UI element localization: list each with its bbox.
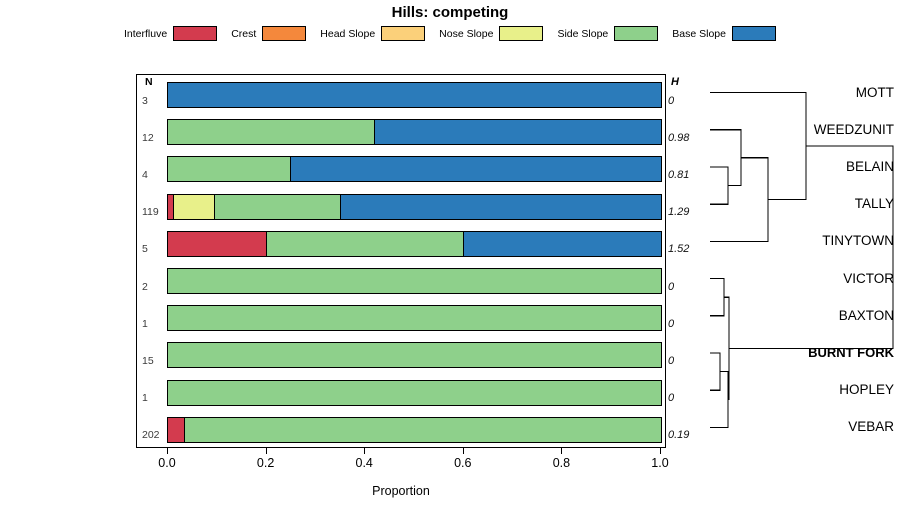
stacked-bar <box>167 268 662 294</box>
dendro-merge-burntfork-hopley <box>710 353 720 390</box>
x-tick-label: 0.8 <box>553 456 570 470</box>
bar-segment-side-slope <box>168 269 661 293</box>
legend-item-side-slope: Side Slope <box>557 26 658 41</box>
bar-row <box>137 187 665 224</box>
bar-segment-base-slope <box>291 157 661 181</box>
bar-segment-side-slope <box>168 306 661 330</box>
dendro-merge-B-tinytown <box>710 158 768 242</box>
legend-label: Crest <box>231 28 256 40</box>
legend-swatch <box>173 26 217 41</box>
x-tick <box>463 448 464 454</box>
x-tick <box>364 448 365 454</box>
stacked-bar <box>167 305 662 331</box>
legend-label: Interfluve <box>124 28 167 40</box>
dendro-merge-mott-C <box>710 93 806 200</box>
h-column-header: H <box>671 76 679 88</box>
bar-segment-base-slope <box>168 83 661 107</box>
legend-label: Side Slope <box>557 28 608 40</box>
h-value: 0 <box>668 95 674 107</box>
bar-segment-side-slope <box>168 343 661 367</box>
stacked-bar <box>167 119 662 145</box>
legend: InterfluveCrestHead SlopeNose SlopeSide … <box>0 26 900 41</box>
bar-segment-nose-slope <box>174 195 214 219</box>
dendrogram <box>688 74 900 448</box>
dendro-merge-weedzunit-A <box>710 130 741 186</box>
bar-segment-side-slope <box>215 195 341 219</box>
x-tick-label: 0.4 <box>355 456 372 470</box>
stacked-bar <box>167 417 662 443</box>
bar-segment-side-slope <box>168 157 291 181</box>
legend-item-interfluve: Interfluve <box>124 26 217 41</box>
dendrogram-svg <box>688 74 900 448</box>
bar-segment-base-slope <box>464 232 661 256</box>
h-value: 0.19 <box>668 429 689 441</box>
stacked-bar <box>167 342 662 368</box>
x-tick-label: 0.2 <box>257 456 274 470</box>
dendro-merge-victor-baxton <box>710 279 724 316</box>
dendro-merge-belain-tally <box>710 167 728 204</box>
bar-segment-base-slope <box>341 195 661 219</box>
legend-swatch <box>262 26 306 41</box>
bar-row <box>137 112 665 149</box>
bar-segment-side-slope <box>168 120 375 144</box>
bar-row <box>137 335 665 372</box>
x-tick <box>660 448 661 454</box>
h-value: 0.81 <box>668 169 689 181</box>
bar-segment-side-slope <box>267 232 464 256</box>
dendro-merge-root <box>729 146 893 348</box>
x-tick-label: 0.6 <box>454 456 471 470</box>
bar-row <box>137 149 665 186</box>
legend-swatch <box>381 26 425 41</box>
h-value: 0 <box>668 355 674 367</box>
bar-row <box>137 410 665 447</box>
bar-row <box>137 373 665 410</box>
h-value: 1.52 <box>668 243 689 255</box>
legend-label: Base Slope <box>672 28 726 40</box>
bar-row <box>137 75 665 112</box>
stacked-bars <box>137 75 665 447</box>
x-axis-title: Proportion <box>136 484 666 498</box>
legend-label: Nose Slope <box>439 28 493 40</box>
bar-row <box>137 224 665 261</box>
stacked-bar <box>167 231 662 257</box>
h-value: 0.98 <box>668 132 689 144</box>
stacked-bar <box>167 380 662 406</box>
page-title: Hills: competing <box>0 4 900 21</box>
legend-label: Head Slope <box>320 28 375 40</box>
legend-item-base-slope: Base Slope <box>672 26 776 41</box>
bar-segment-side-slope <box>185 418 661 442</box>
legend-item-nose-slope: Nose Slope <box>439 26 543 41</box>
bar-segment-interfluve <box>168 418 185 442</box>
legend-swatch <box>614 26 658 41</box>
h-value: 0 <box>668 281 674 293</box>
h-value: 0 <box>668 392 674 404</box>
bar-segment-side-slope <box>168 381 661 405</box>
bar-segment-base-slope <box>375 120 661 144</box>
dendro-merge-F-vebar <box>710 372 728 428</box>
x-tick <box>561 448 562 454</box>
bar-row <box>137 298 665 335</box>
x-axis: 0.00.20.40.60.81.0 <box>136 448 666 478</box>
x-tick-label: 1.0 <box>651 456 668 470</box>
legend-item-head-slope: Head Slope <box>320 26 425 41</box>
x-tick <box>167 448 168 454</box>
stacked-bar <box>167 82 662 108</box>
h-value: 0 <box>668 318 674 330</box>
legend-swatch <box>499 26 543 41</box>
x-tick-label: 0.0 <box>158 456 175 470</box>
bar-row <box>137 261 665 298</box>
stacked-bar <box>167 156 662 182</box>
h-value: 1.29 <box>668 206 689 218</box>
stacked-bar <box>167 194 662 220</box>
legend-swatch <box>732 26 776 41</box>
x-tick <box>266 448 267 454</box>
legend-item-crest: Crest <box>231 26 306 41</box>
bar-segment-interfluve <box>168 232 267 256</box>
